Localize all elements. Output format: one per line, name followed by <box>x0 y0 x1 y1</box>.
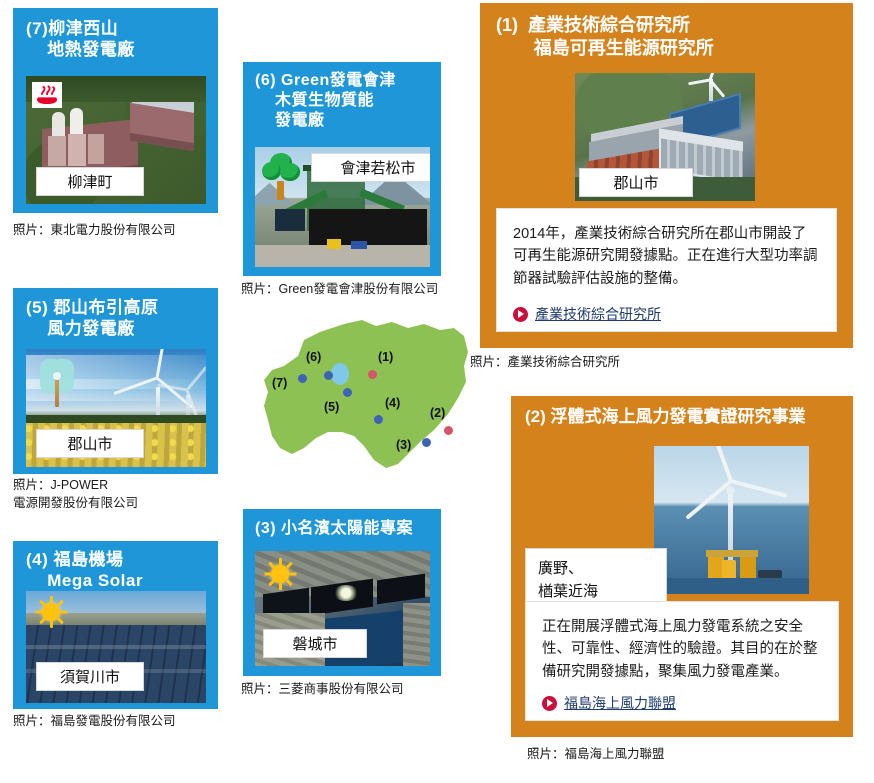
map-markers-layer: (6) (1) (7) (5) (4) (2) (3) <box>258 318 474 488</box>
card-7-photo: 柳津町 <box>26 76 206 204</box>
map-label-2: (2) <box>430 406 445 420</box>
map-label-5: (5) <box>324 400 339 414</box>
card-7-place-tag: 柳津町 <box>36 167 144 196</box>
play-circle-icon <box>513 307 528 322</box>
card-1-link-label[interactable]: 產業技術綜合研究所 <box>535 304 661 324</box>
card-5-title: (5) 郡山布引高原 風力發電廠 <box>26 297 159 340</box>
card-4-number: (4) <box>26 550 48 569</box>
card-1-credit: 照片：產業技術綜合研究所 <box>470 353 620 371</box>
card-floating-offshore-wind-demonstration[interactable]: (2) 浮體式海上風力發電實證研究事業 廣野、 楢葉近海 正在開展浮體式海上風力… <box>511 396 853 737</box>
tree-biomass-icon <box>261 153 301 201</box>
card-5-credit: 照片：J-POWER 電源開發股份有限公司 <box>13 476 138 512</box>
card-3-photo: 磐城市 <box>255 551 430 666</box>
card-1-photo: 郡山市 <box>575 73 755 201</box>
card-4-credit: 照片：福島發電股份有限公司 <box>13 712 176 730</box>
card-green-aizu-biomass[interactable]: (6) Green發電會津 木質生物質能 發電廠 會津若松市 照片：Green發… <box>243 62 441 276</box>
card-1-textbox: 2014年，產業技術綜合研究所在郡山市開設了可再生能源研究開發據點。正在進行大型… <box>496 208 837 332</box>
card-3-title-line1: 小名濱太陽能專案 <box>281 520 413 537</box>
card-fukushima-airport-mega-solar[interactable]: (4) 福島機場 Mega Solar 須賀川市 照片：福島發電股份有限公司 <box>13 541 218 709</box>
map-label-3: (3) <box>396 438 411 452</box>
card-5-place-tag: 郡山市 <box>36 429 144 458</box>
card-5-title-line1: 郡山布引高原 <box>54 298 159 317</box>
card-1-body: 2014年，產業技術綜合研究所在郡山市開設了可再生能源研究開發據點。正在進行大型… <box>513 223 820 290</box>
card-3-credit: 照片：三菱商事股份有限公司 <box>241 680 404 698</box>
card-3-number: (3) <box>255 520 276 537</box>
card-1-place-tag: 郡山市 <box>579 168 693 197</box>
map-dot-5[interactable] <box>343 388 352 397</box>
card-3-place-tag: 磐城市 <box>263 629 367 658</box>
card-2-photo <box>654 446 809 594</box>
card-onahama-solar-project[interactable]: (3) 小名濱太陽能專案 磐城市 照片：三菱商事股份有限公司 <box>243 509 441 676</box>
card-1-number: (1) <box>496 15 518 35</box>
card-6-place-tag: 會津若松市 <box>311 153 430 182</box>
card-2-link-label[interactable]: 福島海上風力聯盟 <box>564 693 676 713</box>
card-4-photo: 須賀川市 <box>26 591 206 703</box>
card-6-title-line2: 木質生物質能 <box>255 91 396 111</box>
play-circle-icon <box>542 696 557 711</box>
card-2-title-line1: 浮體式海上風力發電實證研究事業 <box>551 407 806 426</box>
card-1-title: (1) 產業技術綜合研究所 福島可再生能源研究所 <box>496 14 714 61</box>
map-dot-1[interactable] <box>368 370 377 379</box>
card-3-title: (3) 小名濱太陽能專案 <box>255 519 413 539</box>
card-5-number: (5) <box>26 298 48 317</box>
sun-solar-icon <box>34 595 68 629</box>
card-6-credit: 照片：Green發電會津股份有限公司 <box>241 280 438 298</box>
card-yanaizu-nishiyama-geothermal[interactable]: (7)柳津西山 地熱發電廠 柳津町 照片：東北電力股份有限公司 <box>13 8 218 213</box>
sun-solar-icon <box>263 557 297 591</box>
map-label-6: (6) <box>306 350 321 364</box>
map-label-7: (7) <box>272 376 287 390</box>
card-2-link[interactable]: 福島海上風力聯盟 <box>542 693 822 713</box>
card-1-title-line1: 產業技術綜合研究所 <box>528 15 690 35</box>
card-7-title-line2: 地熱發電廠 <box>26 39 135 60</box>
card-7-title: (7)柳津西山 地熱發電廠 <box>26 18 135 61</box>
card-2-credit: 照片：福島海上風力聯盟 <box>527 745 665 763</box>
card-6-photo: 會津若松市 <box>255 147 430 267</box>
card-6-title-line1: Green發電會津 <box>281 72 396 89</box>
pinwheel-wind-icon <box>36 355 78 407</box>
card-nunobiki-kogen-wind[interactable]: (5) 郡山布引高原 風力發電廠 郡山市 照片： <box>13 288 218 474</box>
onsen-geothermal-icon <box>32 82 62 108</box>
map-dot-6[interactable] <box>324 371 333 380</box>
card-4-place-tag: 須賀川市 <box>36 662 144 691</box>
map-dot-4[interactable] <box>374 415 383 424</box>
card-2-title: (2) 浮體式海上風力發電實證研究事業 <box>525 406 806 428</box>
card-7-title-line1: 柳津西山 <box>48 19 118 38</box>
card-7-credit: 照片：東北電力股份有限公司 <box>13 221 176 239</box>
card-5-photo: 郡山市 <box>26 349 206 467</box>
map-label-4: (4) <box>385 396 400 410</box>
card-2-place-line2: 楢葉近海 <box>538 580 654 603</box>
card-4-title-line2: Mega Solar <box>26 570 143 591</box>
card-1-link[interactable]: 產業技術綜合研究所 <box>513 304 820 324</box>
card-1-title-line2: 福島可再生能源研究所 <box>496 37 714 60</box>
card-6-title-line3: 發電廠 <box>255 111 396 131</box>
map-dot-3[interactable] <box>422 438 431 447</box>
card-4-title: (4) 福島機場 Mega Solar <box>26 549 143 592</box>
card-6-number: (6) <box>255 72 276 89</box>
card-2-body: 正在開展浮體式海上風力發電系統之安全性、可靠性、經濟性的驗證。其目的在於整備研究… <box>542 616 822 683</box>
card-2-number: (2) <box>525 407 546 426</box>
card-6-title: (6) Green發電會津 木質生物質能 發電廠 <box>255 71 396 131</box>
map-label-1: (1) <box>378 350 393 364</box>
card-5-title-line2: 風力發電廠 <box>26 318 159 339</box>
card-2-textbox: 正在開展浮體式海上風力發電系統之安全性、可靠性、經濟性的驗證。其目的在於整備研究… <box>525 601 839 721</box>
map-dot-7[interactable] <box>298 374 307 383</box>
card-aist-fukushima-renewable-energy-institute[interactable]: (1) 產業技術綜合研究所 福島可再生能源研究所 郡山市 2014年，產業技術綜… <box>480 3 853 348</box>
card-7-number: (7) <box>26 19 48 38</box>
card-2-place-line1: 廣野、 <box>538 557 654 580</box>
card-4-title-line1: 福島機場 <box>54 550 124 569</box>
map-dot-2[interactable] <box>444 426 453 435</box>
